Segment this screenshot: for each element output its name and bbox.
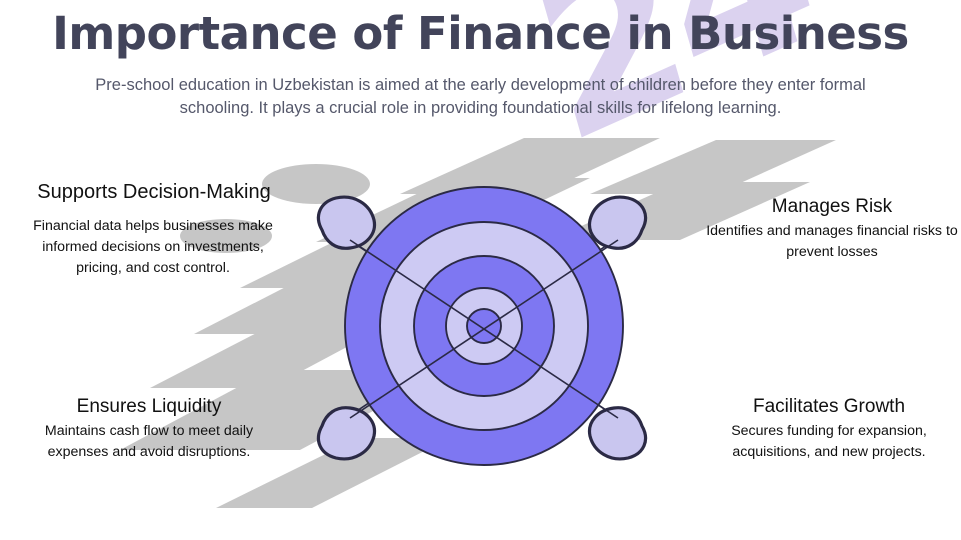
callout-heading: Facilitates Growth [698, 395, 960, 419]
callout-heading: Ensures Liquidity [18, 395, 280, 419]
callout-ensures-liquidity: Ensures Liquidity Maintains cash flow to… [18, 395, 280, 463]
callout-facilitates-growth: Facilitates Growth Secures funding for e… [698, 395, 960, 463]
target-diagram [262, 178, 702, 478]
callout-manages-risk: Manages Risk Identifies and manages fina… [706, 195, 958, 263]
petal-bottom-right [590, 408, 646, 459]
callout-body: Identifies and manages financial risks t… [706, 221, 958, 263]
target-diagram-svg [262, 178, 702, 478]
callout-body: Financial data helps businesses make inf… [28, 216, 278, 279]
target-bullseye [467, 309, 501, 343]
petal-bottom-left [318, 408, 374, 459]
page-subtitle: Pre-school education in Uzbekistan is ai… [78, 74, 883, 120]
petal-top-left [318, 197, 374, 248]
slide-canvas: 24 Importance of Finance in Business Pre… [0, 0, 961, 540]
callout-heading: Manages Risk [706, 195, 958, 219]
callout-body: Maintains cash flow to meet daily expens… [18, 421, 280, 463]
page-title: Importance of Finance in Business [0, 6, 961, 62]
callout-heading: Supports Decision-Making [8, 180, 300, 204]
callout-supports-decision-making: Supports Decision-Making Financial data … [8, 180, 300, 279]
callout-body: Secures funding for expansion, acquisiti… [698, 421, 960, 463]
